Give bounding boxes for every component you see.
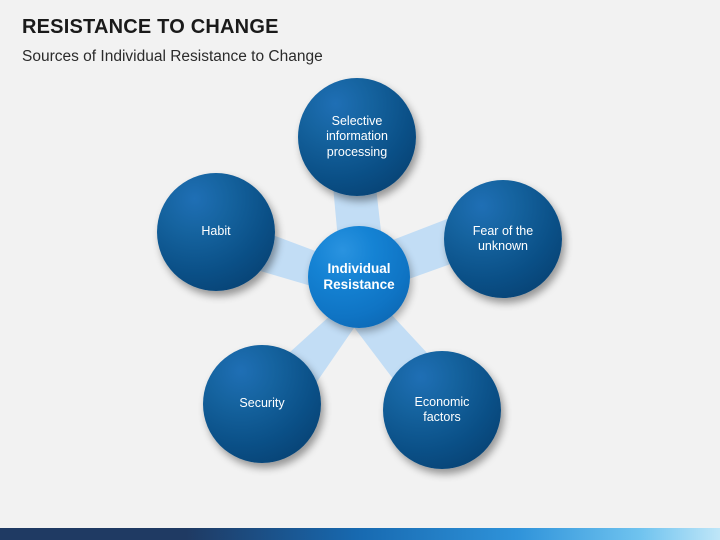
node-label-individual-resistance: IndividualResistance bbox=[307, 261, 410, 294]
node-line-1: Economic bbox=[407, 395, 478, 410]
node-fear-of-the-unknown[interactable]: Fear of theunknown bbox=[444, 180, 562, 298]
node-line-2: unknown bbox=[465, 239, 541, 254]
node-line-1: Security bbox=[231, 396, 292, 411]
node-security[interactable]: Security bbox=[203, 345, 321, 463]
footer-bar-gradient bbox=[186, 528, 720, 540]
footer-bar-left bbox=[0, 528, 186, 540]
node-line-3: processing bbox=[318, 145, 396, 160]
node-economic-factors[interactable]: Economicfactors bbox=[383, 351, 501, 469]
footer-bar bbox=[0, 528, 720, 540]
node-label-economic-factors: Economicfactors bbox=[399, 395, 486, 426]
node-label-fear-of-the-unknown: Fear of theunknown bbox=[457, 224, 549, 255]
node-individual-resistance[interactable]: IndividualResistance bbox=[308, 226, 410, 328]
node-line-1: Habit bbox=[193, 224, 238, 239]
node-line-2: factors bbox=[407, 410, 478, 425]
node-habit[interactable]: Habit bbox=[157, 173, 275, 291]
node-label-selective-information-processing: Selectiveinformationprocessing bbox=[310, 114, 404, 160]
node-line-1: Fear of the bbox=[465, 224, 541, 239]
node-line-2: information bbox=[318, 129, 396, 144]
slide: RESISTANCE TO CHANGE Sources of Individu… bbox=[0, 0, 720, 540]
node-line-1: Individual bbox=[315, 261, 402, 277]
node-label-habit: Habit bbox=[185, 224, 246, 239]
node-selective-information-processing[interactable]: Selectiveinformationprocessing bbox=[298, 78, 416, 196]
node-label-security: Security bbox=[223, 396, 300, 411]
node-line-1: Selective bbox=[318, 114, 396, 129]
node-line-2: Resistance bbox=[315, 277, 402, 293]
